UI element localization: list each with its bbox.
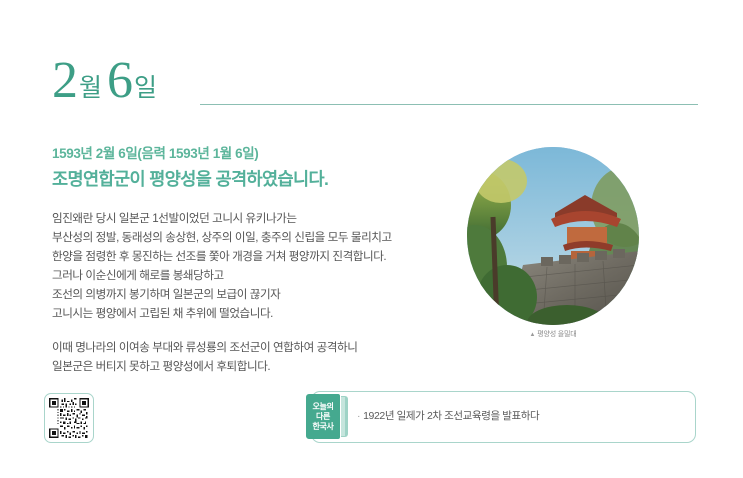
book-cover-icon: 오늘의 다른 한국사 (306, 394, 340, 439)
photo-caption: ▲평양성 을밀대 (467, 329, 639, 339)
body-paragraph-1: 임진왜란 당시 일본군 1선발이었던 고니시 유키나가는 부산성의 정발, 동래… (52, 209, 462, 323)
bullet-marker: · (357, 410, 360, 422)
badge-line: 다른 (316, 412, 330, 421)
headline-title: 조명연합군이 평양성을 공격하였습니다. (52, 168, 452, 192)
body-line: 한양을 점령한 후 몽진하는 선조를 쫓아 개경을 거쳐 평양까지 진격합니다. (52, 247, 462, 266)
qr-code-icon (49, 398, 89, 438)
fortress-photo (467, 147, 639, 325)
body-line: 그러나 이순신에게 해로를 봉쇄당하고 (52, 266, 462, 285)
footer-entry-text: 1922년 일제가 2차 조선교육령을 발표하다 (363, 410, 539, 422)
body-copy: 임진왜란 당시 일본군 1선발이었던 고니시 유키나가는 부산성의 정발, 동래… (52, 209, 462, 376)
header-divider (200, 104, 698, 105)
body-line: 고니시는 평양에서 고립된 채 추위에 떨었습니다. (52, 304, 462, 323)
body-line: 일본군은 버티지 못하고 평양성에서 후퇴합니다. (52, 357, 462, 376)
book-spine-inner-icon (341, 397, 345, 436)
body-line: 조선의 의병까지 봉기하며 일본군의 보급이 끊기자 (52, 285, 462, 304)
headline-block: 1593년 2월 6일(음력 1593년 1월 6일) 조명연합군이 평양성을 … (52, 144, 452, 191)
other-history-badge[interactable]: 오늘의 다른 한국사 (306, 394, 348, 439)
fortress-photo-illustration (467, 147, 639, 325)
photo-block: ▲평양성 을밀대 (467, 147, 639, 325)
date-day-number: 6 (107, 56, 132, 105)
date-month-unit: 월 (77, 76, 107, 105)
qr-code[interactable] (44, 393, 94, 443)
date-header: 2 월 6 일 (52, 56, 162, 105)
headline-subtitle: 1593년 2월 6일(음력 1593년 1월 6일) (52, 144, 452, 164)
history-card: 2 월 6 일 1593년 2월 6일(음력 1593년 1월 6일) 조명연합… (0, 0, 743, 478)
caption-text: 평양성 을밀대 (537, 331, 576, 338)
badge-line: 오늘의 (313, 402, 334, 411)
body-paragraph-2: 이때 명나라의 이여송 부대와 류성룡의 조선군이 연합하여 공격하니 일본군은… (52, 338, 462, 376)
body-line: 부산성의 정발, 동래성의 송상현, 상주의 이일, 충주의 신립을 모두 물리… (52, 228, 462, 247)
date-month-number: 2 (52, 56, 77, 105)
footer-entry[interactable]: ·1922년 일제가 2차 조선교육령을 발표하다 (357, 408, 539, 423)
date-day-unit: 일 (132, 76, 162, 105)
badge-line: 한국사 (313, 422, 334, 431)
body-line: 임진왜란 당시 일본군 1선발이었던 고니시 유키나가는 (52, 209, 462, 228)
caption-marker-icon: ▲ (530, 332, 536, 338)
body-line: 이때 명나라의 이여송 부대와 류성룡의 조선군이 연합하여 공격하니 (52, 338, 462, 357)
